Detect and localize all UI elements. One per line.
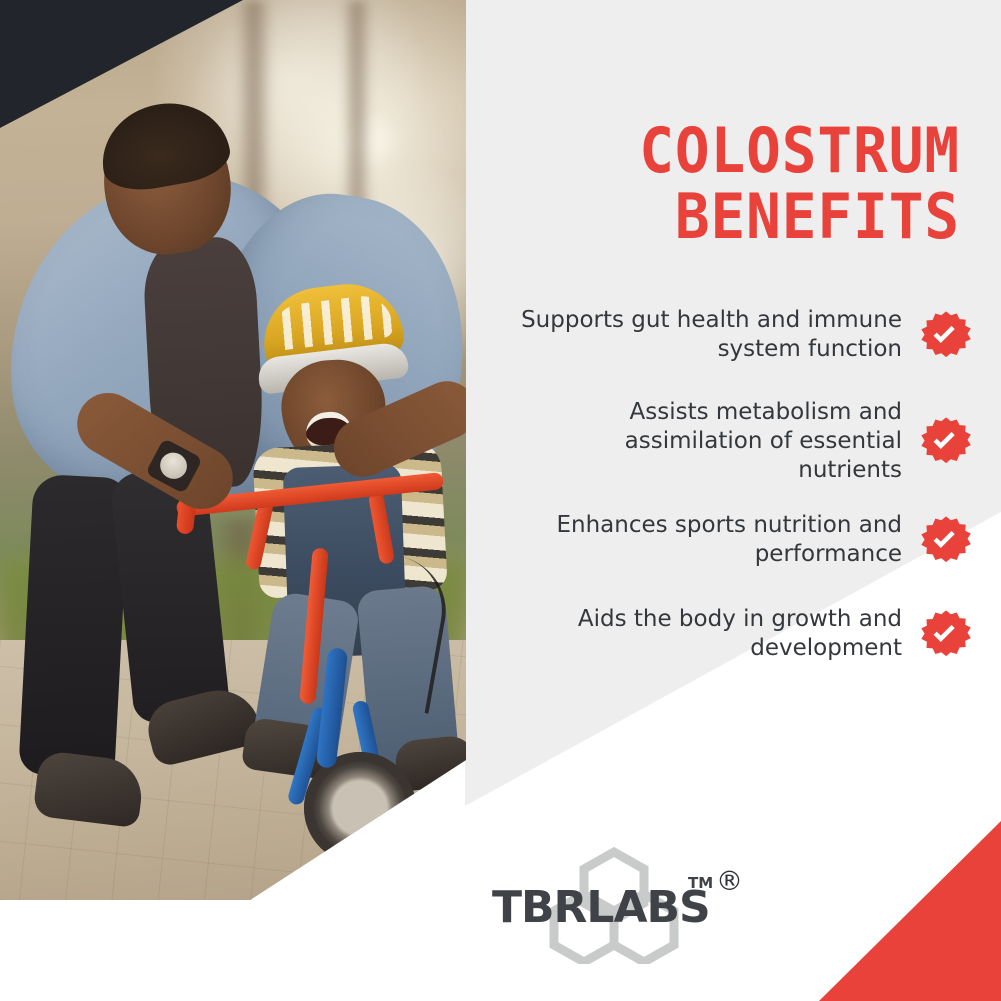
benefit-text: Aids the body in growth and development bbox=[520, 605, 902, 663]
registered-symbol: ® bbox=[716, 868, 743, 895]
check-seal-icon bbox=[920, 309, 972, 361]
benefits-list: Supports gut health and immune system fu… bbox=[520, 306, 972, 689]
benefit-text: Supports gut health and immune system fu… bbox=[520, 306, 902, 364]
trademark-symbol: TM bbox=[688, 874, 713, 892]
benefit-item: Aids the body in growth and development bbox=[520, 605, 972, 663]
brand-logo: TBRLABS TM ® bbox=[492, 846, 742, 964]
check-seal-icon bbox=[920, 415, 972, 467]
check-seal-icon bbox=[920, 514, 972, 566]
hero-photo bbox=[0, 0, 466, 900]
benefit-text: Enhances sports nutrition and performanc… bbox=[520, 511, 902, 569]
logo-wordmark: TBRLABS bbox=[492, 882, 704, 933]
check-seal-icon bbox=[920, 608, 972, 660]
benefit-item: Supports gut health and immune system fu… bbox=[520, 306, 972, 364]
benefit-item: Assists metabolism and assimilation of e… bbox=[520, 398, 972, 485]
title-line-1: COLOSTRUM bbox=[532, 118, 960, 184]
page-title: COLOSTRUM BENEFITS bbox=[500, 118, 960, 249]
title-line-2: BENEFITS bbox=[532, 184, 960, 250]
bottom-right-red-corner bbox=[701, 821, 1001, 1001]
bicycle-front-wheel bbox=[304, 752, 416, 864]
infographic-canvas: COLOSTRUM BENEFITS Supports gut health a… bbox=[0, 0, 1001, 1001]
benefit-text: Assists metabolism and assimilation of e… bbox=[520, 398, 902, 485]
benefit-item: Enhances sports nutrition and performanc… bbox=[520, 511, 972, 569]
